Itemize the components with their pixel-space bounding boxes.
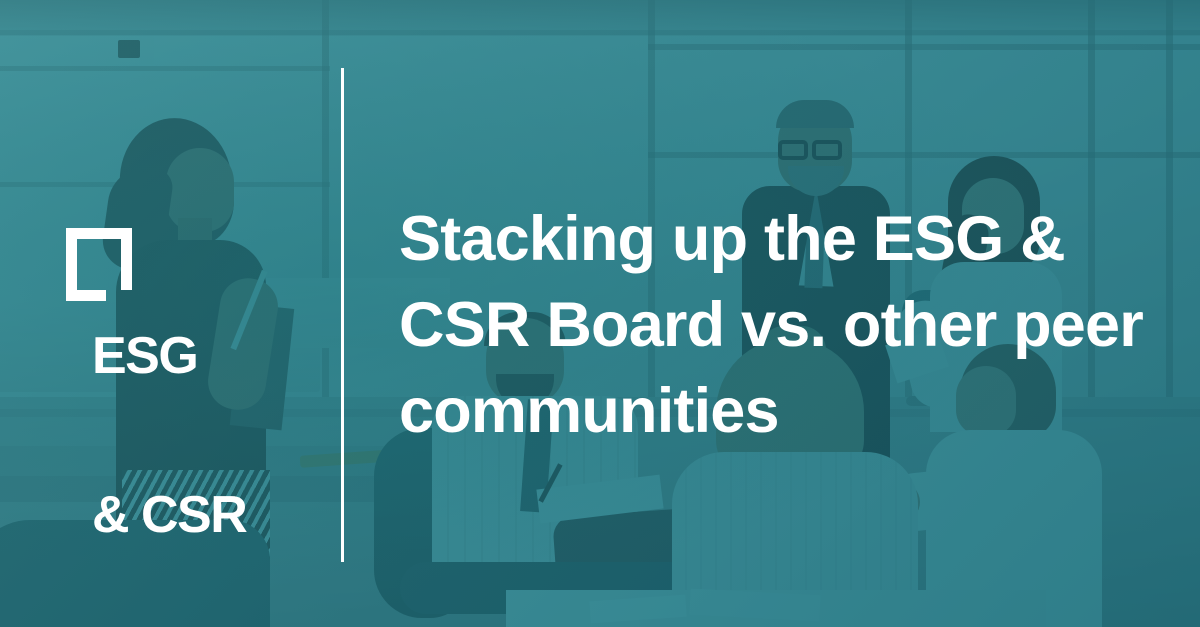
- brand-logo[interactable]: ESG & CSR Board™: [62, 224, 292, 627]
- brand-logo-line-1: ESG: [92, 330, 292, 383]
- page-title-line-2: CSR Board vs. other peer: [399, 282, 1189, 368]
- brand-logo-line-2: & CSR: [92, 489, 292, 542]
- page-title: Stacking up the ESG & CSR Board vs. othe…: [399, 196, 1189, 454]
- card-content: ESG & CSR Board™ Stacking up the ESG & C…: [0, 0, 1200, 627]
- page-title-line-1: Stacking up the ESG &: [399, 196, 1189, 282]
- social-share-card: ESG & CSR Board™ Stacking up the ESG & C…: [0, 0, 1200, 627]
- vertical-divider: [341, 68, 344, 562]
- brand-logo-text: ESG & CSR Board™: [62, 224, 292, 627]
- page-title-line-3: communities: [399, 368, 1189, 454]
